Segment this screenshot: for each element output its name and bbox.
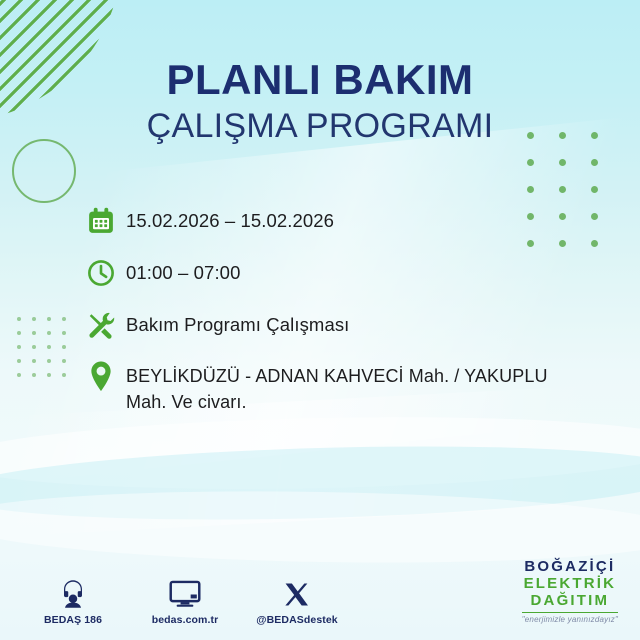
planned-maintenance-poster: PLANLI BAKIM ÇALIŞMA PROGRAMI (0, 0, 640, 640)
dot (591, 159, 598, 166)
dot (17, 317, 21, 321)
detail-text-location: BEYLİKDÜZÜ - ADNAN KAHVECİ Mah. / YAKUPL… (126, 358, 556, 415)
dot (32, 331, 36, 335)
circle-outline-decoration (12, 139, 76, 203)
detail-text-date: 15.02.2026 – 15.02.2026 (126, 202, 334, 234)
dot (17, 359, 21, 363)
logo-divider (522, 612, 618, 614)
dot (62, 359, 66, 363)
page-subtitle: ÇALIŞMA PROGRAMI (0, 106, 640, 146)
dot-grid-left-decoration (11, 312, 71, 382)
dot (47, 317, 51, 321)
x-twitter-icon (283, 575, 311, 609)
detail-text-work-type: Bakım Programı Çalışması (126, 306, 349, 338)
maintenance-details-list: 15.02.2026 – 15.02.2026 01:00 – 07:00 (86, 202, 556, 429)
dot (47, 373, 51, 377)
call-center-agent-icon (58, 575, 88, 609)
location-pin-icon (86, 358, 126, 396)
detail-row-work-type: Bakım Programı Çalışması (86, 306, 556, 344)
contact-x-twitter-label: @BEDASdestek (256, 614, 337, 626)
page-title: PLANLI BAKIM (0, 58, 640, 102)
dot (62, 317, 66, 321)
dot (591, 213, 598, 220)
dot (47, 359, 51, 363)
dot (32, 345, 36, 349)
dot (591, 240, 598, 247)
dot (62, 345, 66, 349)
dot (17, 331, 21, 335)
contact-phone-label: BEDAŞ 186 (44, 614, 102, 626)
dot (62, 373, 66, 377)
dot (559, 213, 566, 220)
detail-text-time: 01:00 – 07:00 (126, 254, 240, 286)
company-logo: BOĞAZİÇİ ELEKTRİK DAĞITIM "enerjimizle y… (522, 559, 618, 625)
dot (47, 345, 51, 349)
logo-line-dagitim: DAĞITIM (522, 593, 618, 608)
poster-headline: PLANLI BAKIM ÇALIŞMA PROGRAMI (0, 58, 640, 146)
dot (47, 331, 51, 335)
background-wave-2 (0, 438, 640, 529)
poster-footer: BEDAŞ 186 bedas.com.tr (0, 548, 640, 640)
dot (527, 159, 534, 166)
logo-tagline: "enerjimizle yanınızdayız" (522, 616, 618, 624)
monitor-icon (169, 575, 201, 609)
dot (559, 159, 566, 166)
contact-channels: BEDAŞ 186 bedas.com.tr (30, 575, 340, 626)
detail-row-location: BEYLİKDÜZÜ - ADNAN KAHVECİ Mah. / YAKUPL… (86, 358, 556, 415)
dot (591, 186, 598, 193)
contact-website[interactable]: bedas.com.tr (142, 575, 228, 626)
dot (32, 317, 36, 321)
dot (17, 373, 21, 377)
contact-x-twitter[interactable]: @BEDASdestek (254, 575, 340, 626)
dot (17, 345, 21, 349)
detail-row-time: 01:00 – 07:00 (86, 254, 556, 292)
detail-row-date: 15.02.2026 – 15.02.2026 (86, 202, 556, 240)
dot (32, 359, 36, 363)
contact-website-label: bedas.com.tr (152, 614, 219, 626)
tools-icon (86, 306, 126, 344)
logo-line-bogazici: BOĞAZİÇİ (522, 559, 618, 574)
clock-icon (86, 254, 126, 292)
dot (559, 240, 566, 247)
dot (32, 373, 36, 377)
dot (527, 186, 534, 193)
logo-line-elektrik: ELEKTRİK (522, 576, 618, 591)
contact-phone[interactable]: BEDAŞ 186 (30, 575, 116, 626)
dot (559, 186, 566, 193)
dot (62, 331, 66, 335)
calendar-icon (86, 202, 126, 240)
